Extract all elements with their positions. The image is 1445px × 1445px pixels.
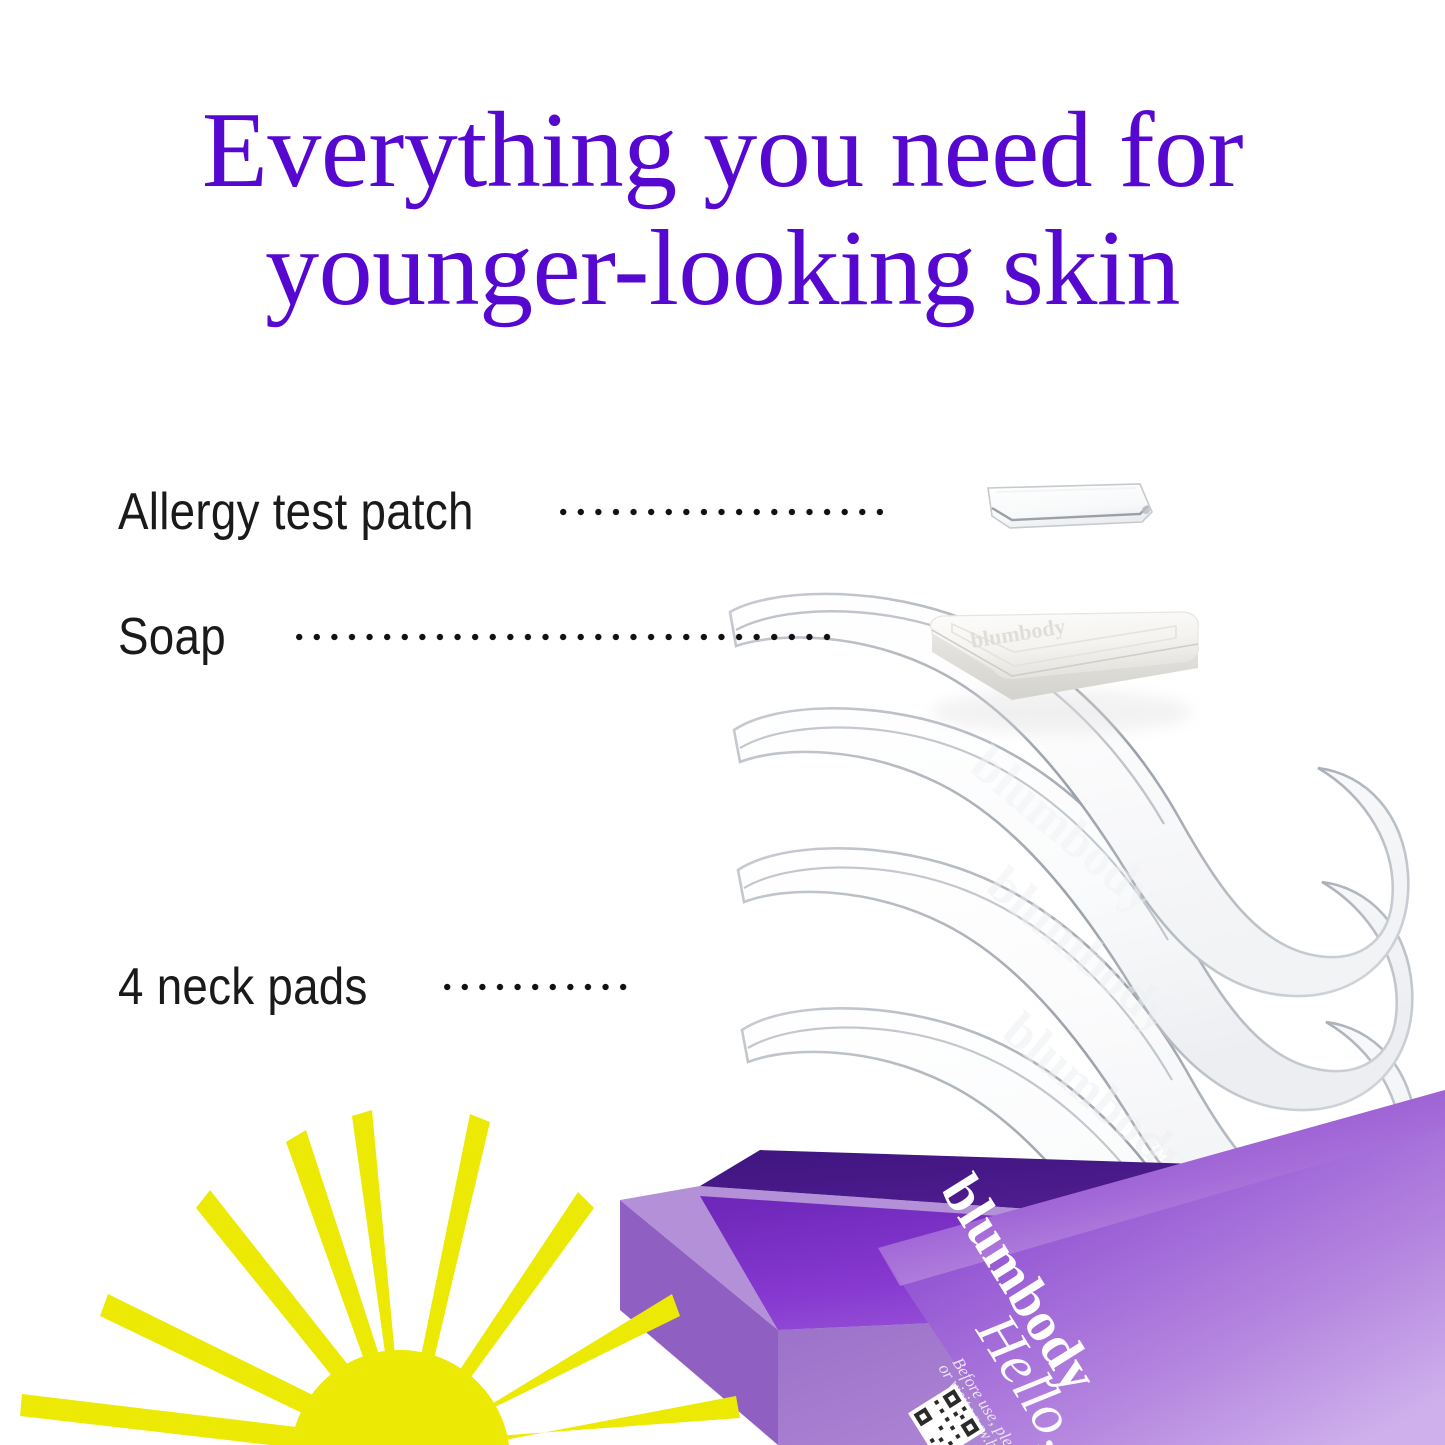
dotted-leader-icon <box>296 633 836 641</box>
neck-pad-2: blumbody <box>734 708 1412 1110</box>
dotted-leader-icon <box>444 983 634 991</box>
feature-label-soap: Soap <box>118 611 226 663</box>
neck-pad-emboss-text: blumbody <box>976 856 1185 1045</box>
box-instruction-line-2: or visit www.blumbody.co <box>935 1360 1044 1445</box>
box-greeting-text: Hello, beautiful <box>963 1302 1212 1445</box>
box-interior <box>700 1150 1445 1238</box>
box-instruction-line-1: Before use, please scan the QR <box>949 1354 1077 1445</box>
feature-row-neck-pads: 4 neck pads <box>118 961 634 1013</box>
box-lid <box>878 1090 1445 1445</box>
dotted-leader-icon <box>560 508 890 516</box>
sunburst-graphic <box>0 1080 760 1445</box>
neck-pad-emboss-text: blumbody <box>992 1002 1201 1191</box>
neck-pad-3: blumbody <box>738 848 1416 1250</box>
soap-bar: blumbody <box>930 612 1198 734</box>
allergy-test-patch <box>988 484 1152 528</box>
box-lid-brand-text: blumbody <box>929 1164 1110 1403</box>
infographic-canvas: Everything you need for younger-looking … <box>0 0 1445 1445</box>
neck-pad-emboss-text: blumbody <box>1012 1166 1221 1355</box>
page-title: Everything you need for younger-looking … <box>0 92 1445 328</box>
qr-code-icon <box>908 1384 985 1445</box>
feature-label-allergy-test-patch: Allergy test patch <box>118 486 474 538</box>
feature-row-soap: Soap <box>118 611 836 663</box>
box-wall-front <box>778 1300 1445 1445</box>
neck-pad-emboss-text: blumbody <box>960 736 1169 925</box>
neck-pad-4: blumbody <box>742 1008 1420 1410</box>
soap-emboss-text: blumbody <box>969 613 1067 653</box>
box-lid-trademark: ™ <box>1142 1139 1171 1168</box>
feature-row-allergy-test-patch: Allergy test patch <box>118 486 890 538</box>
feature-label-neck-pads: 4 neck pads <box>118 961 368 1013</box>
box-base <box>700 1196 1445 1330</box>
